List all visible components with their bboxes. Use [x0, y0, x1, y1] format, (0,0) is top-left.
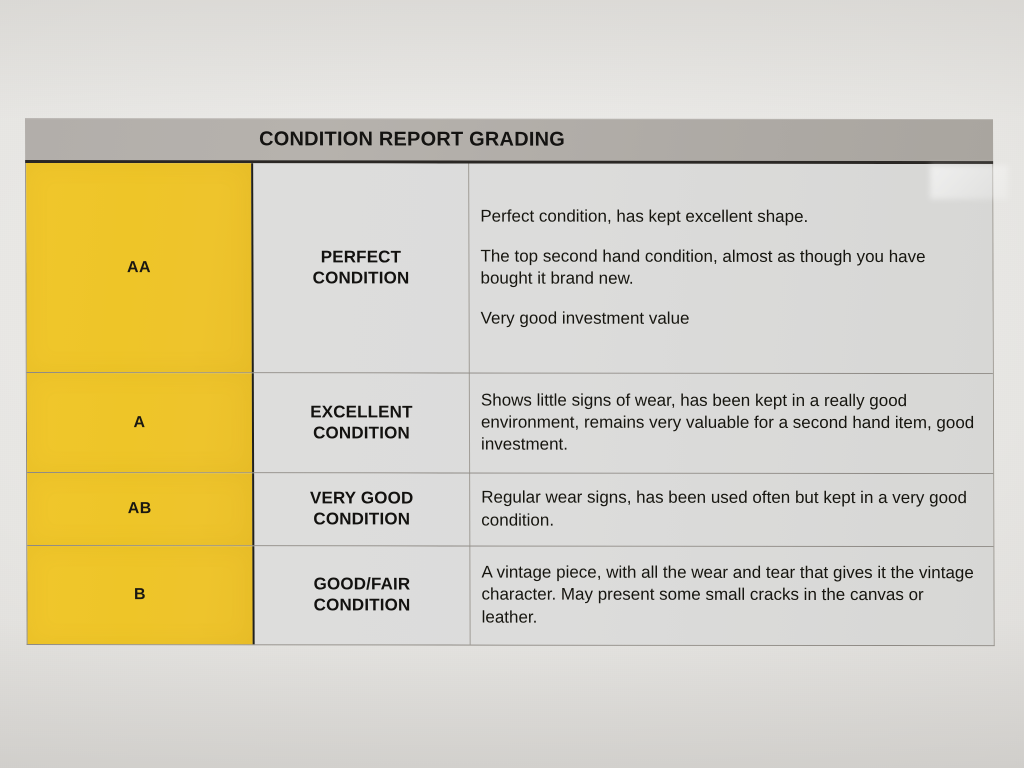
condition-title-cell-ab: VERY GOOD CONDITION	[254, 473, 470, 545]
grade-cell-ab: AB	[27, 473, 254, 545]
condition-title-cell-a: EXCELLENT CONDITION	[254, 373, 470, 472]
description-paragraph: Very good investment value	[481, 308, 977, 331]
table-row: AA PERFECT CONDITION Perfect condition, …	[26, 163, 993, 374]
condition-report-grading-table: CONDITION REPORT GRADING AA PERFECT COND…	[25, 118, 995, 646]
condition-title-line-2: CONDITION	[313, 423, 410, 442]
grade-label: B	[134, 586, 146, 604]
table-row: AB VERY GOOD CONDITION Regular wear sign…	[27, 473, 993, 547]
grade-cell-b: B	[27, 546, 254, 644]
grade-cell-a: A	[27, 373, 254, 472]
grade-label: AA	[127, 259, 151, 277]
table-body: AA PERFECT CONDITION Perfect condition, …	[25, 163, 995, 646]
condition-title-line-2: CONDITION	[313, 268, 410, 287]
table-row: A EXCELLENT CONDITION Shows little signs…	[27, 373, 993, 474]
condition-title-cell-aa: PERFECT CONDITION	[253, 163, 470, 372]
grade-label: A	[133, 414, 145, 432]
description-paragraph: Shows little signs of wear, has been kep…	[481, 389, 977, 456]
condition-title-cell-b: GOOD/FAIR CONDITION	[254, 546, 470, 644]
condition-title-line-2: CONDITION	[314, 595, 411, 614]
condition-title-line-1: VERY GOOD	[310, 489, 413, 508]
condition-title: GOOD/FAIR CONDITION	[314, 575, 411, 617]
description-paragraph: Regular wear signs, has been used often …	[481, 487, 977, 532]
description-cell-aa: Perfect condition, has kept excellent sh…	[469, 164, 993, 374]
description-paragraph: A vintage piece, with all the wear and t…	[481, 562, 977, 629]
condition-title-line-1: GOOD/FAIR	[314, 575, 411, 594]
description-paragraph: Perfect condition, has kept excellent sh…	[480, 205, 976, 228]
description-paragraph: The top second hand condition, almost as…	[480, 245, 976, 290]
condition-title: EXCELLENT CONDITION	[310, 402, 413, 444]
top-lighting-gradient	[0, 0, 1024, 120]
grade-cell-aa: AA	[26, 163, 254, 372]
description-cell-b: A vintage piece, with all the wear and t…	[470, 547, 993, 646]
condition-title-line-1: EXCELLENT	[310, 402, 412, 421]
condition-title: VERY GOOD CONDITION	[310, 489, 414, 531]
table-title: CONDITION REPORT GRADING	[259, 128, 565, 151]
condition-title-line-1: PERFECT	[321, 247, 401, 266]
condition-title-line-2: CONDITION	[313, 509, 410, 528]
grade-label: AB	[128, 500, 152, 518]
description-cell-ab: Regular wear signs, has been used often …	[470, 474, 993, 547]
condition-title: PERFECT CONDITION	[313, 247, 410, 289]
table-header-band: CONDITION REPORT GRADING	[25, 118, 993, 164]
description-cell-a: Shows little signs of wear, has been kep…	[470, 374, 993, 474]
table-row: B GOOD/FAIR CONDITION A vintage piece, w…	[27, 546, 993, 645]
